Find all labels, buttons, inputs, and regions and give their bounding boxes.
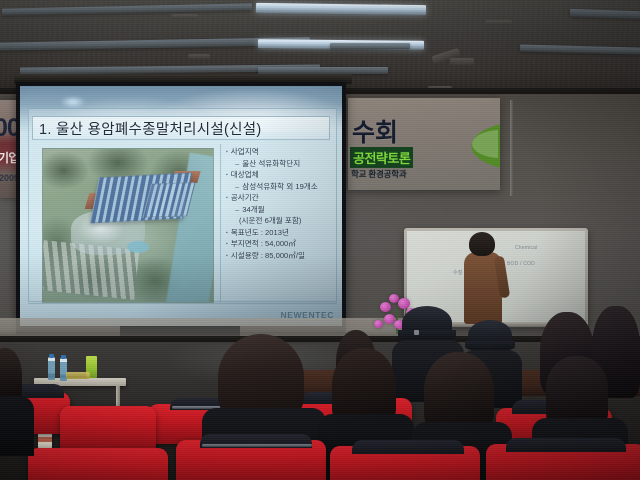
list-item: 부지면적 : 54,000㎡ [226,238,338,250]
list-item: 시설용량 : 85,000㎥/일 [226,250,338,262]
banner-right-small-text: 학교 환경공학과 [351,168,407,180]
ceiling-vent [172,14,198,19]
flower-petal [380,302,391,312]
slide-title-box: 1. 울산 용암폐수종말처리시설(신설) [32,116,330,140]
auditorium-seat [60,406,156,450]
hair [424,352,494,432]
list-item: 공사기간 [226,192,338,204]
list-item: 대상업체 [226,169,338,181]
slide-rendering-image [42,148,214,303]
whiteboard-ink-line: BOD / COD [507,261,535,267]
rendering-treatment-basins [143,182,196,218]
projector-glare [60,96,86,108]
coffee-cup-band [38,437,52,442]
slide-footer-divider [28,303,337,304]
torso [0,396,34,456]
ceiling-light-fixture [330,43,410,49]
banner-right: 수회 공전략토론 학교 환경공학과 [348,98,500,190]
snack-tray [66,372,90,379]
water-bottle [48,357,55,380]
ceiling-vent [188,54,210,59]
presenter-head [469,232,495,256]
auditorium-seat-headrest [352,440,464,454]
seat-chrome-bar [202,444,312,447]
cap-logo [414,330,419,335]
projection-screen: 1. 울산 용암폐수종말처리시설(신설) 사업지역 울산 석유화학단지 대상업체… [20,86,342,326]
list-item: 사업지역 [226,146,338,158]
auditorium-seat-headrest [506,438,626,452]
banner-right-big-text: 수회 [352,113,398,149]
whiteboard-ink-line: Chemical [515,245,537,251]
ceiling-vent [486,20,512,25]
banner-right-green-text: 공전략토론 [350,147,413,168]
rendering-pond [127,241,149,253]
slide-bullet-list: 사업지역 울산 석유화학단지 대상업체 삼성석유화학 외 19개소 공사기간 3… [226,146,338,261]
lecture-hall-photo: 00 기업 2009. 수회 공전략토론 학교 환경공학과 Chemical 수… [0,0,640,480]
ceiling-speaker [450,58,474,65]
flower-petal [374,320,383,328]
banner-pole [510,100,513,196]
ceiling-light-fixture [258,67,388,74]
list-item: 34개월 [226,204,338,216]
list-item: 목표년도 : 2013년 [226,227,338,239]
list-item: (시운전 6개월 포함) [226,215,338,227]
bottle-cap [61,355,66,359]
list-item: 삼성석유화학 외 19개소 [226,181,338,193]
list-item: 울산 석유화학단지 [226,158,338,170]
projected-slide: 1. 울산 용암폐수종말처리시설(신설) 사업지역 울산 석유화학단지 대상업체… [20,86,342,326]
auditorium-seat [28,448,168,480]
slide-column-divider [220,144,221,302]
banner-chevron-highlight [414,114,498,174]
slide-title: 1. 울산 용암폐수종말처리시설(신설) [33,118,262,139]
bottle-cap [49,354,54,358]
